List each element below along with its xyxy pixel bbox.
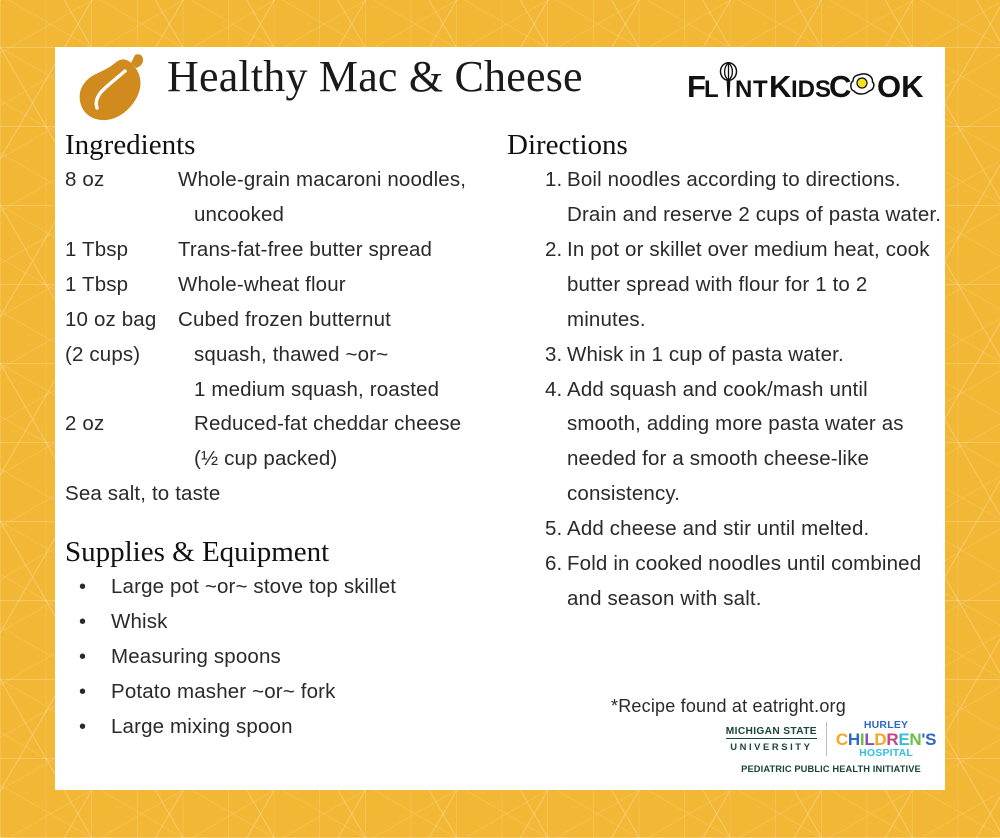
ingredient-desc: Whole-grain macaroni noodles, [178,163,513,198]
list-item: • Large pot ~or~ stove top skillet [65,570,513,605]
step-text: Add cheese and stir until melted. [567,512,947,547]
step-number: 4. [545,373,567,408]
list-item: • Potato masher ~or~ fork [65,675,513,710]
ingredient-desc: Reduced-fat cheddar cheese [178,407,513,442]
step-number: 6. [545,547,567,582]
hurley-letter: S [925,730,936,749]
list-item: • Measuring spoons [65,640,513,675]
supplies-list: • Large pot ~or~ stove top skillet • Whi… [65,570,513,744]
svg-text:OK: OK [877,69,924,104]
recipe-source-note: *Recipe found at eatright.org [611,696,846,717]
bullet-icon: • [79,675,111,709]
ingredient-desc: uncooked [178,198,513,233]
ingredient-desc: 1 medium squash, roasted [178,373,513,408]
directions-list: 1. Boil noodles according to directions.… [507,163,947,616]
ingredient-amount: 8 oz [65,163,178,198]
ingredient-desc: (½ cup packed) [178,442,513,477]
ingredient-row: 1 Tbsp Trans-fat-free butter spread [65,233,513,268]
left-column: Ingredients 8 oz Whole-grain macaroni no… [65,129,513,745]
step-number: 3. [545,338,567,373]
hurley-letter: L [864,730,874,749]
direction-step: 6. Fold in cooked noodles until combined… [507,547,947,617]
ingredient-row: 8 oz Whole-grain macaroni noodles, [65,163,513,198]
hurley-letter: D [874,730,886,749]
hurley-letter: N [909,730,921,749]
step-number: 5. [545,512,567,547]
svg-text:IDS: IDS [791,76,831,103]
ingredients-footnote: Sea salt, to taste [65,477,513,512]
bullet-icon: • [79,605,111,639]
ingredient-row: 2 oz Reduced-fat cheddar cheese [65,407,513,442]
ingredient-desc: Trans-fat-free butter spread [178,233,513,268]
sponsor-logos: MICHIGAN STATE UNIVERSITY HURLEY CHILDRE… [725,720,937,774]
step-text: Boil noodles according to directions. Dr… [567,163,947,233]
direction-step: 5. Add cheese and stir until melted. [507,512,947,547]
step-text: In pot or skillet over medium heat, cook… [567,233,947,338]
ingredient-row: (2 cups) squash, thawed ~or~ [65,338,513,373]
svg-text:K: K [769,69,792,104]
ingredient-row: (½ cup packed) [65,442,513,477]
svg-text:N: N [735,76,752,103]
ingredient-desc: Cubed frozen butternut [178,303,513,338]
ingredient-amount: 10 oz bag [65,303,178,338]
bullet-icon: • [79,640,111,674]
page-title: Healthy Mac & Cheese [167,51,583,102]
msu-line-2: UNIVERSITY [726,739,817,752]
list-item: • Large mixing spoon [65,710,513,745]
svg-text:L: L [704,76,719,103]
butternut-squash-icon [75,51,153,125]
direction-step: 4. Add squash and cook/mash until smooth… [507,373,947,512]
hurley-letter: H [848,730,860,749]
step-text: Whisk in 1 cup of pasta water. [567,338,947,373]
svg-text:C: C [829,69,851,104]
directions-heading: Directions [507,129,947,161]
ingredient-row: 1 Tbsp Whole-wheat flour [65,268,513,303]
right-column: Directions 1. Boil noodles according to … [507,129,947,616]
ingredient-amount: 1 Tbsp [65,233,178,268]
michigan-state-university-logo: MICHIGAN STATE UNIVERSITY [726,726,817,752]
logo-divider [826,722,827,756]
supplies-heading: Supplies & Equipment [65,536,513,568]
hurley-hospital-wordmark: HOSPITAL [836,748,936,759]
ingredient-amount: 2 oz [65,407,178,442]
fried-egg-icon [851,74,874,94]
ingredient-row: 10 oz bag Cubed frozen butternut [65,303,513,338]
recipe-card: Healthy Mac & Cheese F L N T K IDS C [55,47,945,790]
msu-line-1: MICHIGAN STATE [726,726,817,739]
direction-step: 3. Whisk in 1 cup of pasta water. [507,338,947,373]
supply-label: Large mixing spoon [111,710,293,745]
flintkidscook-logo: F L N T K IDS C [687,57,937,113]
supply-label: Potato masher ~or~ fork [111,675,336,710]
ingredient-desc: squash, thawed ~or~ [178,338,513,373]
supply-label: Measuring spoons [111,640,281,675]
hurley-childrens-wordmark: CHILDREN'S [836,731,936,748]
ingredient-row: uncooked [65,198,513,233]
ingredient-desc: Whole-wheat flour [178,268,513,303]
hurley-letter: C [836,730,848,749]
card-header: Healthy Mac & Cheese F L N T K IDS C [55,47,945,129]
hurley-childrens-hospital-logo: HURLEY CHILDREN'S HOSPITAL [836,720,936,759]
bullet-icon: • [79,570,111,604]
direction-step: 2. In pot or skillet over medium heat, c… [507,233,947,338]
direction-step: 1. Boil noodles according to directions.… [507,163,947,233]
list-item: • Whisk [65,605,513,640]
ingredient-row: 1 medium squash, roasted [65,373,513,408]
ingredient-amount: (2 cups) [65,338,178,373]
bullet-icon: • [79,710,111,744]
hurley-letter: R [886,730,898,749]
pediatric-public-health-initiative-label: PEDIATRIC PUBLIC HEALTH INITIATIVE [725,764,937,774]
ingredients-heading: Ingredients [65,129,513,161]
ingredients-list: 8 oz Whole-grain macaroni noodles, uncoo… [65,163,513,511]
supply-label: Whisk [111,605,168,640]
step-number: 1. [545,163,567,198]
svg-text:T: T [753,76,768,103]
step-number: 2. [545,233,567,268]
hurley-letter: E [898,730,909,749]
step-text: Add squash and cook/mash until smooth, a… [567,373,947,512]
ingredient-amount: 1 Tbsp [65,268,178,303]
supply-label: Large pot ~or~ stove top skillet [111,570,396,605]
step-text: Fold in cooked noodles until combined an… [567,547,947,617]
